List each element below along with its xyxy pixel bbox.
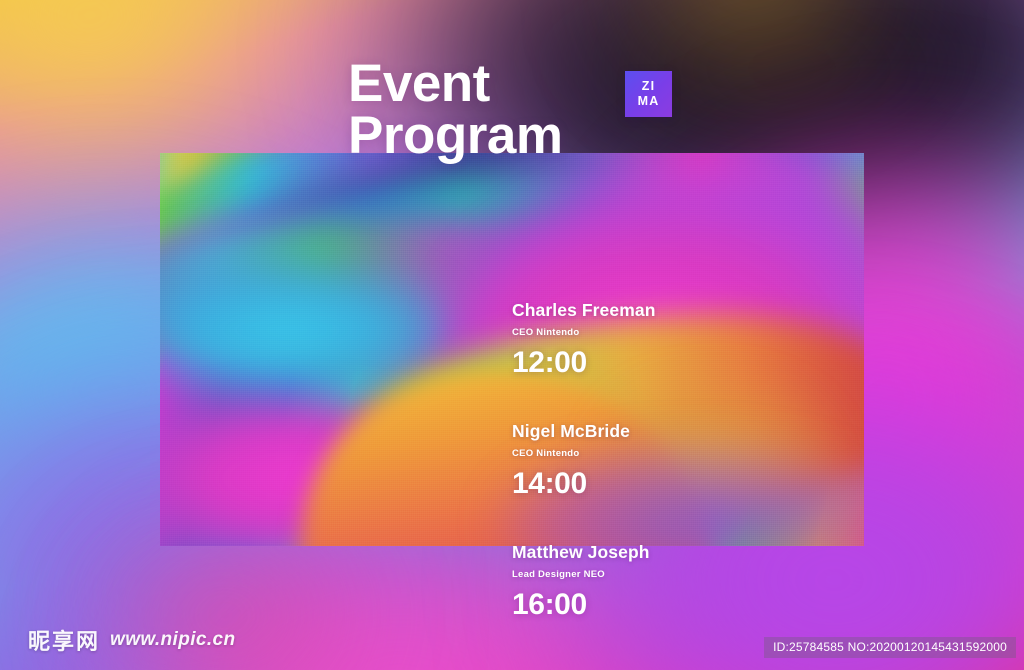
speaker-role: Lead Designer NEO [512,569,872,580]
speaker-name: Charles Freeman [512,300,872,321]
schedule-item: Nigel McBride CEO Nintendo 14:00 [512,421,872,500]
gold-blob-top-right [624,0,884,80]
page-title: Event Program [348,58,562,162]
schedule-item: Matthew Joseph Lead Designer NEO 16:00 [512,542,872,621]
navy-trough [211,153,658,309]
zima-logo-line2: MA [638,94,660,110]
cyan-pocket [160,263,456,397]
schedule-item: Charles Freeman CEO Nintendo 12:00 [512,300,872,379]
speaker-role: CEO Nintendo [512,448,872,459]
speaker-name: Matthew Joseph [512,542,872,563]
speaker-role: CEO Nintendo [512,327,872,338]
watermark-url: www.nipic.cn [110,629,236,651]
title-line-event: Event [348,58,562,110]
stock-id-badge: ID:25784585 NO:20200120145431592000 [764,637,1016,658]
site-watermark: 昵享网 www.nipic.cn [28,624,236,656]
schedule-list: Charles Freeman CEO Nintendo 12:00 Nigel… [512,300,872,621]
poster-canvas: Event Program ZI MA Charles Freeman CEO … [0,0,1024,670]
session-time: 14:00 [512,468,872,500]
title-line-program: Program [348,110,562,162]
zima-logo-line1: ZI [642,79,656,95]
session-time: 16:00 [512,589,872,621]
magenta-streak-bottom-left [160,397,498,546]
session-time: 12:00 [512,347,872,379]
speaker-name: Nigel McBride [512,421,872,442]
watermark-logo-text: 昵享网 [28,624,100,656]
zima-logo: ZI MA [625,71,672,117]
